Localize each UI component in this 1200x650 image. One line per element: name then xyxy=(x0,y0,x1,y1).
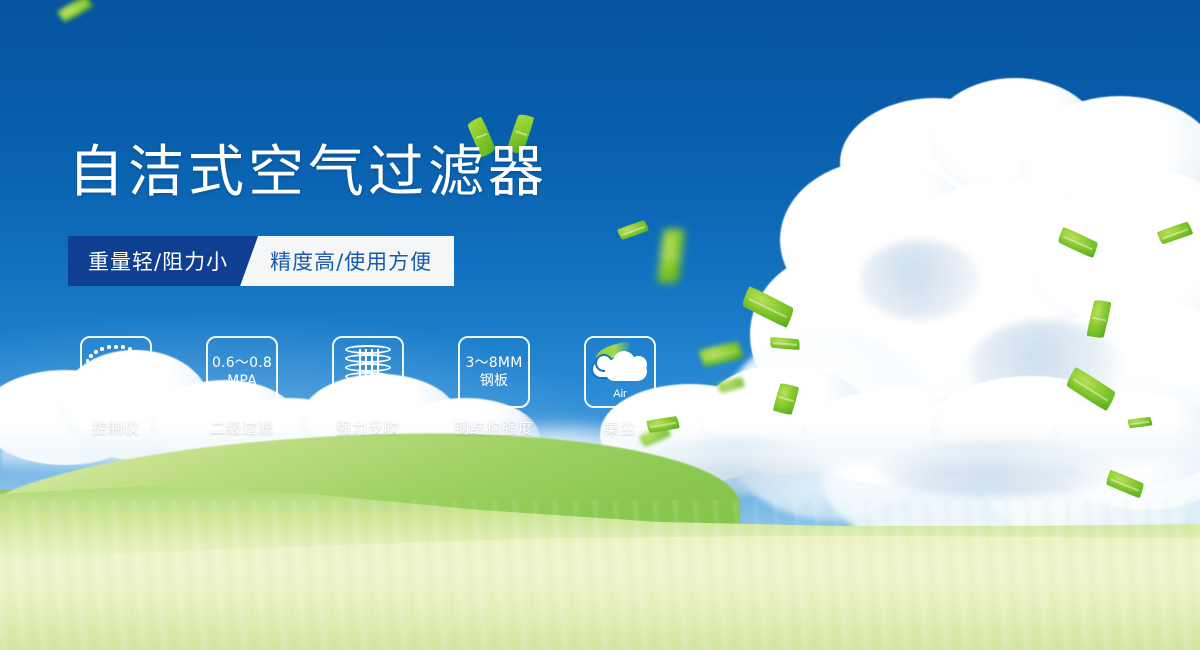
gauge-needle xyxy=(112,354,120,392)
feature-icon-box: Air xyxy=(584,336,656,408)
air-label: Air xyxy=(591,388,649,400)
steel-text-icon-line2: 钢板 xyxy=(480,372,508,390)
subtitle-right: 精度高/使用方便 xyxy=(240,236,454,286)
feature-list: NO OFF 控制仪 0.6～0.8 MPA 二级过滤 xyxy=(80,336,656,438)
pressure-text-icon-line2: MPA xyxy=(227,372,257,390)
feature-item-controller[interactable]: NO OFF 控制仪 xyxy=(80,336,152,438)
feature-icon-box: 0.6～0.8 MPA xyxy=(206,336,278,408)
subtitle-bar: 重量轻/阻力小 精度高/使用方便 xyxy=(68,236,454,286)
cloud-bump-2 xyxy=(630,356,647,373)
product-banner: 自洁式空气过滤器 重量轻/阻力小 精度高/使用方便 xyxy=(0,0,1200,650)
feature-item-dust-collection[interactable]: Air 集尘 xyxy=(584,336,656,438)
feature-label: 强力反吹 xyxy=(336,417,400,438)
feature-label: 集尘 xyxy=(604,417,636,438)
feature-item-secondary-filter[interactable]: 0.6～0.8 MPA 二级过滤 xyxy=(206,336,278,438)
coil-icon xyxy=(345,345,391,399)
subtitle-left: 重量轻/阻力小 xyxy=(68,236,258,286)
page-title: 自洁式空气过滤器 xyxy=(68,142,548,204)
gauge-icon: NO OFF xyxy=(85,343,147,401)
pressure-text-icon-line1: 0.6～0.8 xyxy=(212,354,272,372)
gauge-label-off: OFF xyxy=(132,383,145,389)
air-cloud-icon: Air xyxy=(591,347,649,397)
feature-label: 二级过滤 xyxy=(210,417,274,438)
feature-label: 钢结构强度 xyxy=(454,417,534,438)
feature-icon-box: NO OFF xyxy=(80,336,152,408)
feature-item-steel-strength[interactable]: 3～8MM 钢板 钢结构强度 xyxy=(458,336,530,438)
feature-label: 控制仪 xyxy=(92,417,140,438)
gauge-label-no: NO xyxy=(85,369,94,375)
feature-icon-box xyxy=(332,336,404,408)
feature-item-blowback[interactable]: 强力反吹 xyxy=(332,336,404,438)
steel-text-icon-line1: 3～8MM xyxy=(466,354,523,372)
feature-icon-box: 3～8MM 钢板 xyxy=(458,336,530,408)
